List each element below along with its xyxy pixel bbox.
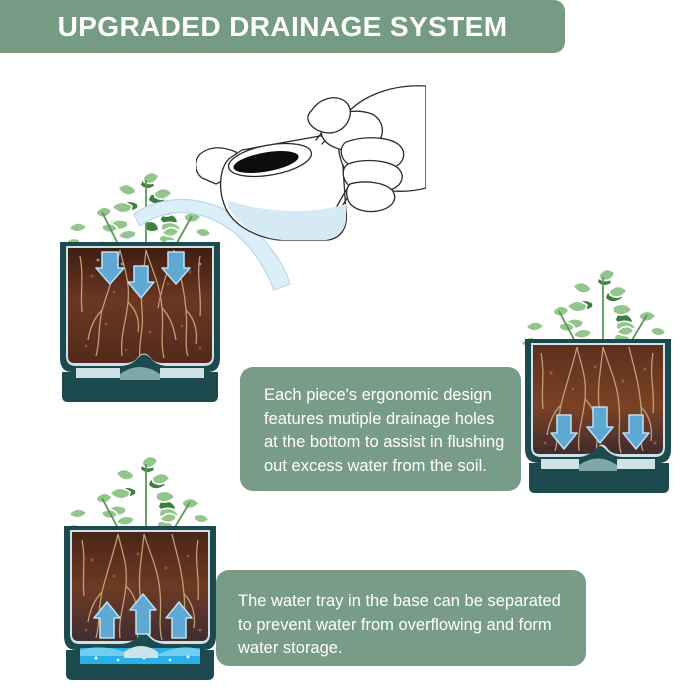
header-banner: UPGRADED DRAINAGE SYSTEM [0, 0, 565, 53]
watering-can-and-hand [196, 80, 426, 280]
planter-bottom-left [52, 452, 230, 684]
plant-foliage [521, 269, 666, 348]
thumb [308, 98, 350, 133]
planter-right [513, 265, 679, 497]
water-tray-callout: The water tray in the base can be separa… [216, 570, 586, 666]
water-reservoir-tray [78, 644, 202, 678]
drainage-tray [74, 366, 206, 398]
water-tray-callout-text: The water tray in the base can be separa… [238, 590, 572, 661]
plant-foliage [64, 456, 209, 535]
drainage-holes-callout-text: Each piece's ergonomic design features m… [264, 384, 505, 478]
finger-4 [347, 182, 395, 212]
drainage-holes-callout: Each piece's ergonomic design features m… [240, 367, 521, 491]
page-title: UPGRADED DRAINAGE SYSTEM [58, 13, 508, 41]
drainage-tray [539, 457, 657, 489]
